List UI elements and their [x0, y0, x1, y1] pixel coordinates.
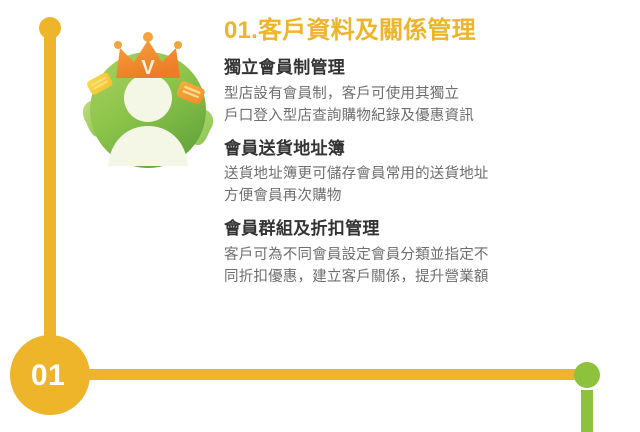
- step-number-label: 01: [31, 361, 65, 391]
- vip-member-icon: V: [78, 26, 218, 178]
- timeline-start-dot: [39, 17, 61, 39]
- timeline-end-stem: [581, 390, 593, 432]
- feature-body: 客戶可為不同會員設定會員分類並指定不 同折扣優惠，建立客戶關係，提升營業額: [224, 244, 624, 288]
- feature-body: 型店設有會員制，客戶可使用其獨立 戶口登入型店查詢購物紀錄及優惠資訊: [224, 83, 624, 127]
- timeline-vertical-line: [44, 28, 56, 338]
- feature-body-line: 方便會員再次購物: [224, 185, 624, 207]
- crown-letter: V: [141, 57, 155, 79]
- feature-block-3: 會員群組及折扣管理 客戶可為不同會員設定會員分類並指定不 同折扣優惠，建立客戶關…: [224, 217, 624, 288]
- crown-dot-right-icon: [174, 41, 182, 49]
- feature-heading: 會員群組及折扣管理: [224, 217, 624, 242]
- feature-body-line: 戶口登入型店查詢購物紀錄及優惠資訊: [224, 105, 624, 127]
- content-column: 01.客戶資料及關係管理 獨立會員制管理 型店設有會員制，客戶可使用其獨立 戶口…: [224, 16, 624, 288]
- page-title: 01.客戶資料及關係管理: [224, 16, 624, 46]
- feature-heading: 會員送貨地址簿: [224, 137, 624, 162]
- feature-body-line: 送貨地址簿更可儲存會員常用的送貨地址: [224, 163, 624, 185]
- feature-heading: 獨立會員制管理: [224, 56, 624, 81]
- feature-block-1: 獨立會員制管理 型店設有會員制，客戶可使用其獨立 戶口登入型店查詢購物紀錄及優惠…: [224, 56, 624, 127]
- feature-body-line: 同折扣優惠，建立客戶關係，提升營業額: [224, 266, 624, 288]
- slide-canvas: V 01 01.客戶資料及關係管理 獨立會員制管理 型店設有會員制，客戶可使用其…: [0, 0, 640, 432]
- person-head-icon: [124, 74, 172, 122]
- step-number-badge: 01: [10, 335, 90, 415]
- feature-body: 送貨地址簿更可儲存會員常用的送貨地址 方便會員再次購物: [224, 163, 624, 207]
- feature-body-line: 型店設有會員制，客戶可使用其獨立: [224, 83, 624, 105]
- vip-member-icon-svg: V: [78, 26, 218, 178]
- crown-dot-center-icon: [143, 32, 153, 42]
- feature-block-2: 會員送貨地址簿 送貨地址簿更可儲存會員常用的送貨地址 方便會員再次購物: [224, 137, 624, 208]
- feature-body-line: 客戶可為不同會員設定會員分類並指定不: [224, 244, 624, 266]
- timeline-end-dot: [574, 362, 600, 388]
- crown-dot-left-icon: [114, 41, 122, 49]
- timeline-horizontal-line: [84, 369, 584, 380]
